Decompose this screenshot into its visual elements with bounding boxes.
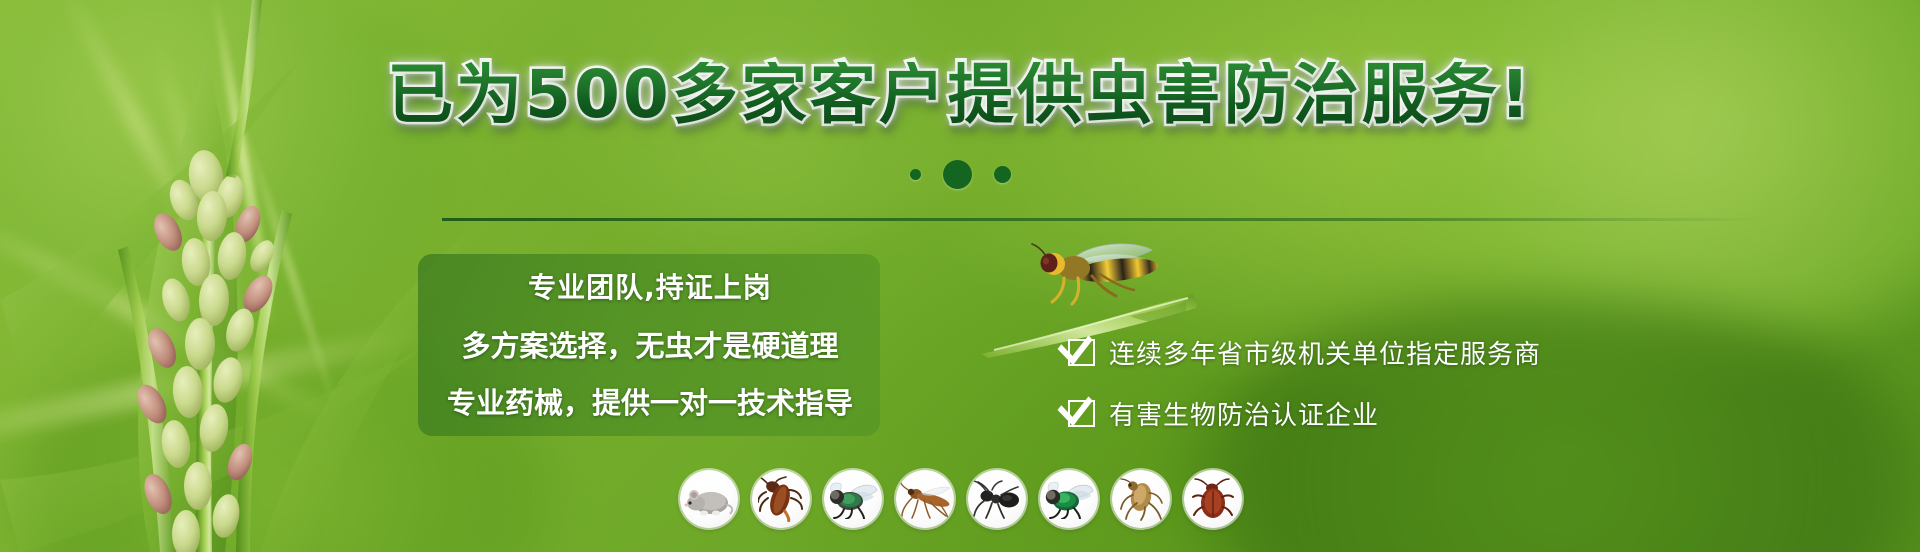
ant-icon[interactable] [968, 470, 1026, 528]
decorative-dots [0, 160, 1920, 189]
divider-rule [442, 218, 1762, 221]
medium-dot [994, 166, 1011, 183]
hoverfly-icon [1030, 240, 1170, 310]
large-dot [943, 160, 972, 189]
housefly-icon[interactable] [824, 470, 882, 528]
cockroach-icon[interactable] [752, 470, 810, 528]
checkbox-checked-icon [1068, 400, 1095, 427]
small-dot [910, 169, 921, 180]
list-item: 连续多年省市级机关单位指定服务商 [1068, 334, 1541, 371]
panel-line-2: 多方案选择，无虫才是硬道理 [436, 323, 864, 365]
greenbottle-fly-icon[interactable] [1040, 470, 1098, 528]
promo-banner: 已为500多家客户提供虫害防治服务! 已为500多家客户提供虫害防治服务! [0, 0, 1920, 552]
list-item: 有害生物防治认证企业 [1068, 395, 1541, 432]
features-panel: 专业团队,持证上岗 多方案选择，无虫才是硬道理 专业药械，提供一对一技术指导 [418, 254, 880, 436]
credential-label: 连续多年省市级机关单位指定服务商 [1109, 334, 1541, 371]
flea-icon[interactable] [1112, 470, 1170, 528]
panel-line-1: 专业团队,持证上岗 [436, 266, 864, 306]
mouse-icon[interactable] [680, 470, 738, 528]
checkbox-checked-icon [1068, 339, 1095, 366]
mosquito-icon[interactable] [896, 470, 954, 528]
panel-line-3: 专业药械，提供一对一技术指导 [436, 380, 864, 422]
credentials-list: 连续多年省市级机关单位指定服务商 有害生物防治认证企业 [1068, 334, 1541, 432]
bedbug-icon[interactable] [1184, 470, 1242, 528]
pest-icon-row [680, 470, 1242, 528]
credential-label: 有害生物防治认证企业 [1109, 395, 1379, 432]
